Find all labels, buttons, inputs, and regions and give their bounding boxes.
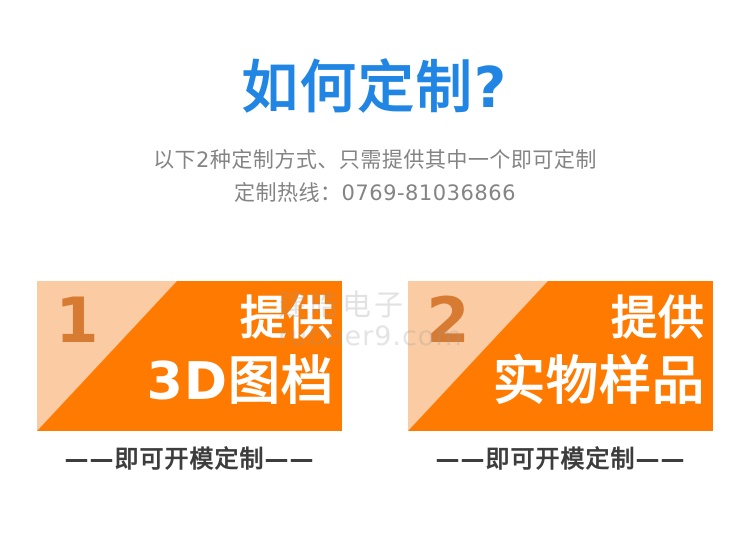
card-text-secondary: 3D图档 <box>147 349 334 415</box>
card-text-secondary: 实物样品 <box>493 349 705 415</box>
card-caption-2: ——即可开模定制—— <box>408 442 713 476</box>
card-caption-1: ——即可开模定制—— <box>37 442 342 476</box>
card-text-primary: 提供 <box>147 287 334 349</box>
captions-row: ——即可开模定制—— ——即可开模定制—— <box>0 442 750 482</box>
card-text-primary: 提供 <box>493 287 705 349</box>
card-text-block: 提供 实物样品 <box>493 287 705 415</box>
subtitle-line-hotline: 定制热线：0769-81036866 <box>0 177 750 210</box>
card-number-badge: 2 <box>418 285 478 357</box>
card-number-badge: 1 <box>47 285 107 357</box>
option-card-1[interactable]: 1 提供 3D图档 <box>37 281 342 431</box>
promo-banner: 如何定制? 以下2种定制方式、只需提供其中一个即可定制 定制热线：0769-81… <box>0 0 750 546</box>
subtitle-line-methods: 以下2种定制方式、只需提供其中一个即可定制 <box>0 144 750 177</box>
page-title: 如何定制? <box>0 56 750 122</box>
card-text-block: 提供 3D图档 <box>147 287 334 415</box>
subtitle-group: 以下2种定制方式、只需提供其中一个即可定制 定制热线：0769-81036866 <box>0 144 750 210</box>
heading-block: 如何定制? 以下2种定制方式、只需提供其中一个即可定制 定制热线：0769-81… <box>0 56 750 210</box>
cards-row: 1 提供 3D图档 2 提供 实物样品 <box>0 281 750 431</box>
option-card-2[interactable]: 2 提供 实物样品 <box>408 281 713 431</box>
